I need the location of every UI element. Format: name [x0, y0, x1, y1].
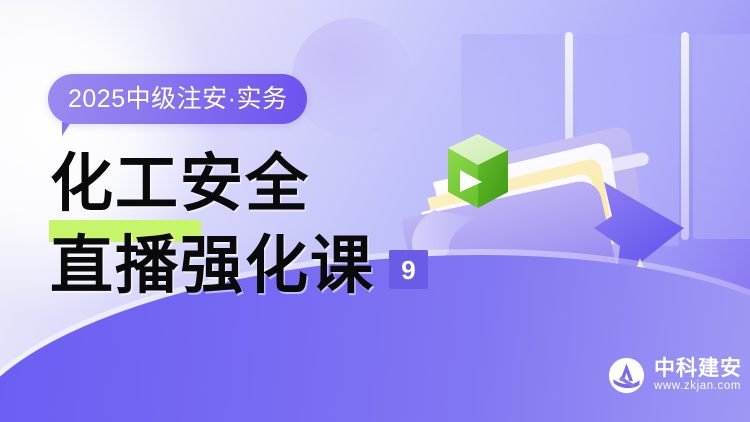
page-title-line1: 化工安全 — [44, 152, 464, 215]
logo-url: www.zkjan.com — [654, 381, 742, 393]
logo-name: 中科建安 — [654, 358, 742, 379]
tagline-text: 2025中级注安·实务 — [68, 87, 287, 112]
tagline-badge: 2025中级注安·实务 — [48, 74, 307, 124]
tagline-tail — [62, 122, 80, 136]
course-promo-banner: 2025中级注安·实务 化工安全 直播强化课 9 中科建安 www.zkjan.… — [0, 0, 750, 422]
lesson-number-badge: 9 — [389, 250, 428, 289]
brand-logo: 中科建安 www.zkjan.com — [608, 357, 742, 394]
title-wrap: 化工安全 直播强化课 9 — [44, 152, 464, 297]
page-title-line2: 直播强化课 9 — [44, 234, 464, 297]
logo-text-block: 中科建安 www.zkjan.com — [654, 358, 742, 393]
zkjan-logo-icon — [608, 357, 645, 394]
copy-block: 2025中级注安·实务 化工安全 直播强化课 9 — [0, 0, 460, 422]
page-title-line2-text: 直播强化课 — [50, 234, 375, 297]
